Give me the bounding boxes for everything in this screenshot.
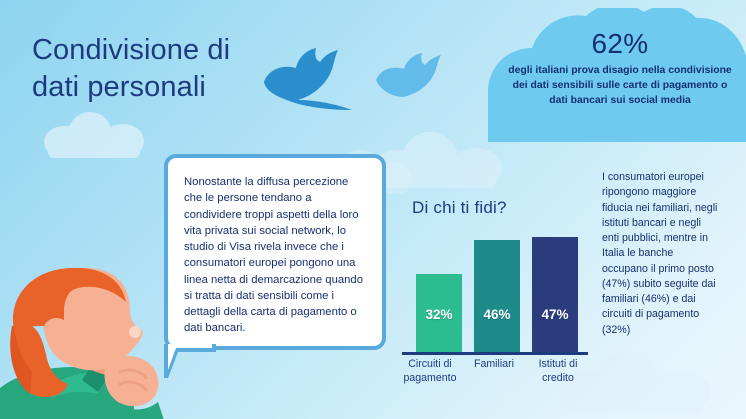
page-title-line-1: Condivisione di: [32, 32, 322, 69]
stat-cloud-text: 62% degli italiani prova disagio nella c…: [502, 30, 738, 108]
woman-shushing-icon: [0, 268, 214, 419]
x-label-circuiti-di-pagamento: Circuiti di pagamento: [398, 358, 462, 385]
chart-plot-area: 32% 46% 47%: [406, 230, 588, 352]
x-label-istituti-di-credito: Istituti di credito: [526, 358, 590, 385]
chart-x-labels: Circuiti di pagamento Familiari Istituti…: [398, 358, 590, 385]
cloud-icon: [44, 112, 144, 158]
infographic-canvas: Condivisione di dati personali 62% degli…: [0, 0, 746, 419]
bar-value-label: 32%: [416, 307, 462, 322]
x-label-familiari: Familiari: [462, 358, 526, 385]
bar-familiari: 46%: [474, 240, 520, 352]
bird-light-icon: [372, 52, 446, 108]
cloud-icon: [372, 132, 502, 188]
chart-axis-line: [402, 352, 588, 355]
bar-value-label: 47%: [532, 307, 578, 322]
bar-circuiti-di-pagamento: 32%: [416, 274, 462, 352]
bar-value-label: 46%: [474, 307, 520, 322]
chart-title: Di chi ti fidi?: [412, 198, 507, 218]
stat-cloud: 62% degli italiani prova disagio nella c…: [488, 8, 746, 142]
bar-chart: Di chi ti fidi? 32% 46% 47% Circuiti di …: [398, 198, 590, 400]
page-title: Condivisione di dati personali: [32, 32, 322, 106]
bar-istituti-di-credito: 47%: [532, 237, 578, 352]
side-note-text: I consumatori europei ripongono maggiore…: [602, 170, 720, 338]
stat-description: degli italiani prova disagio nella condi…: [502, 64, 738, 108]
page-title-line-2: dati personali: [32, 69, 322, 106]
stat-percent: 62%: [502, 30, 738, 58]
